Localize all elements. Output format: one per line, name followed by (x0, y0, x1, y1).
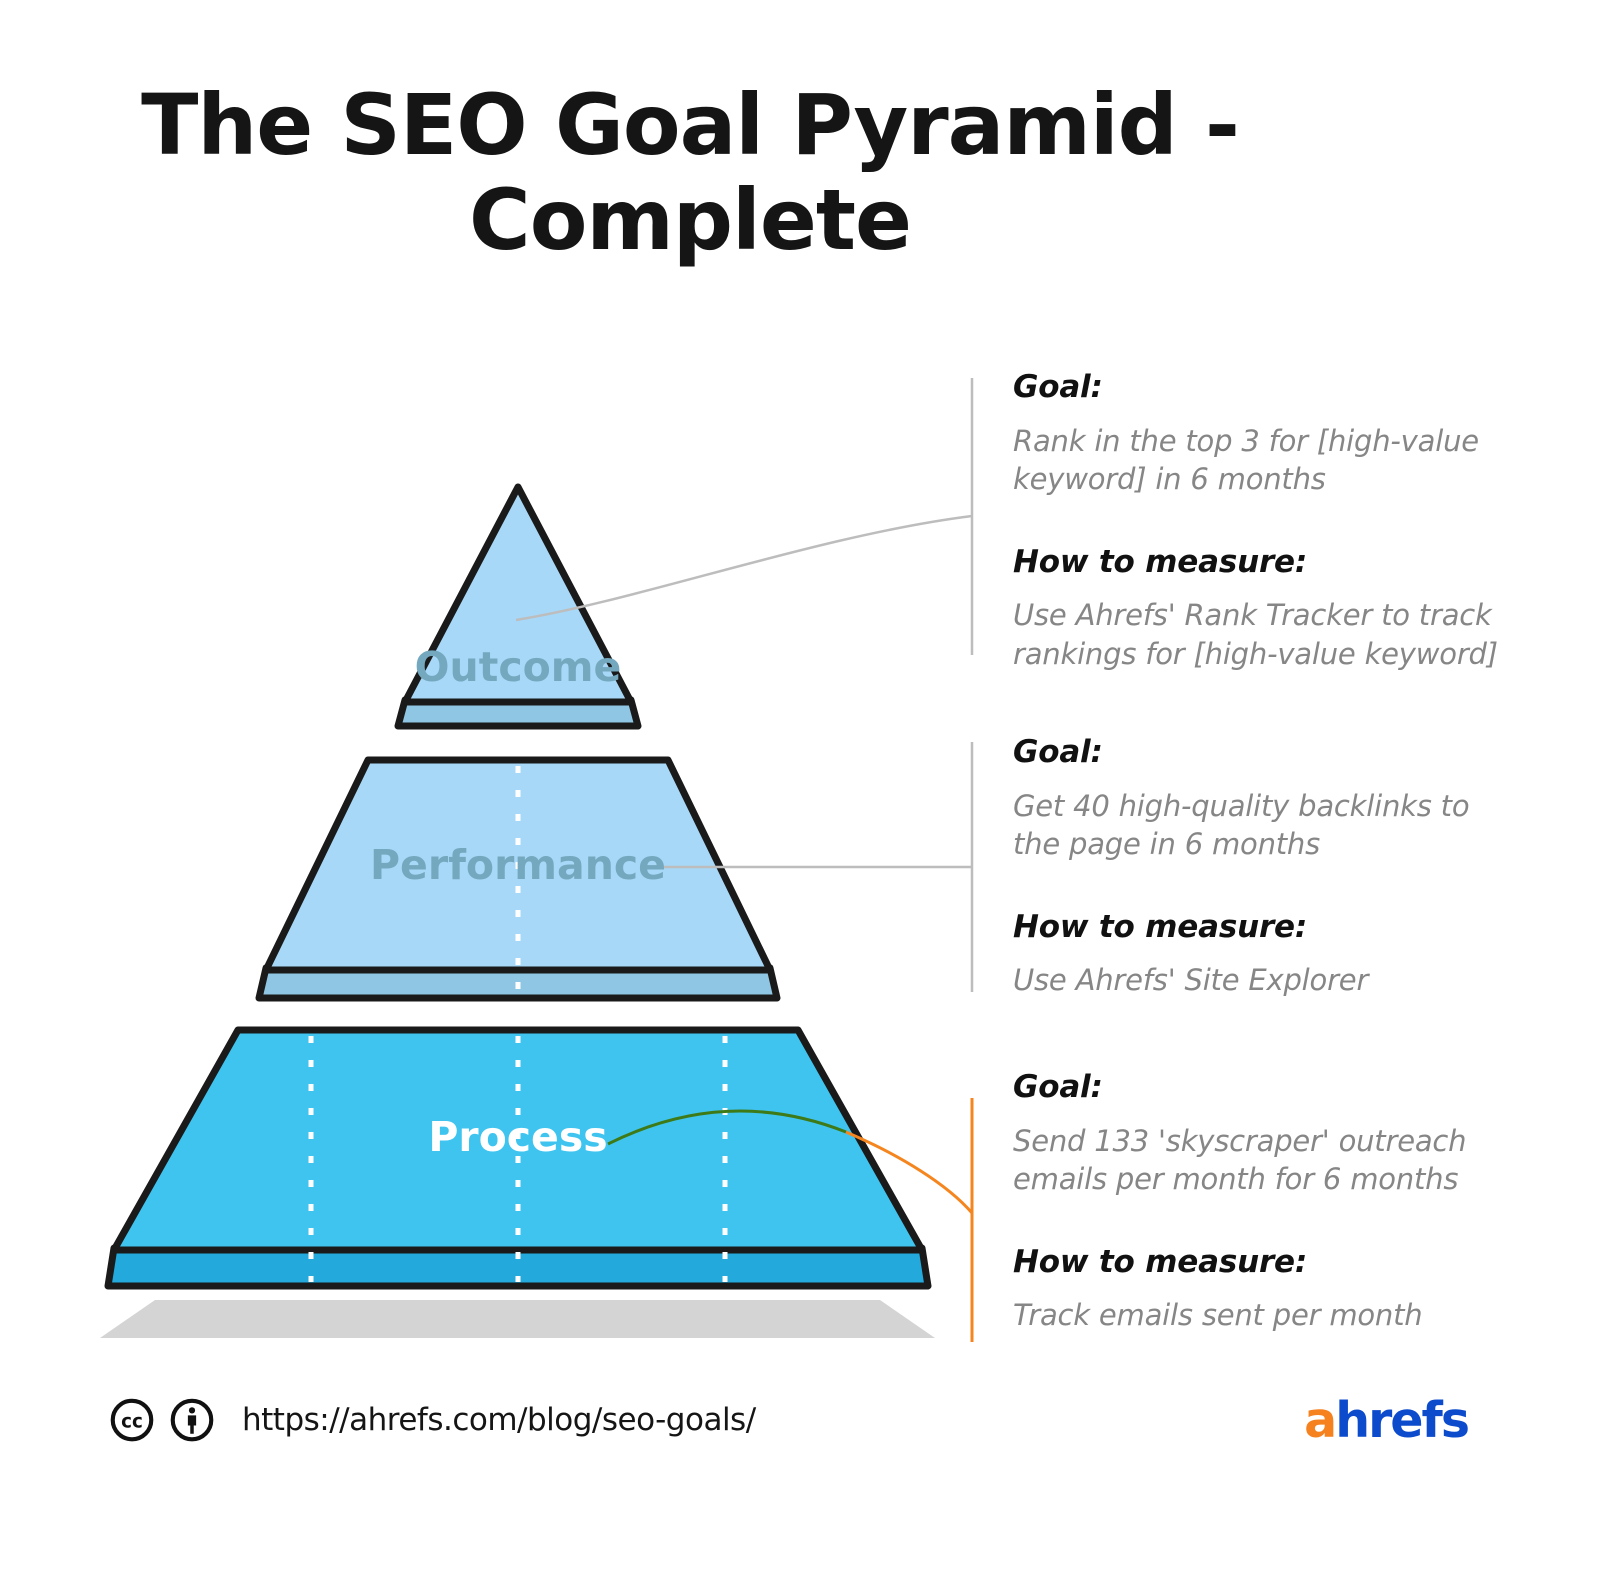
footer-license: cc https://ahrefs.com/blog/seo-goals/ (110, 1398, 756, 1442)
process-measure-heading: How to measure: (1013, 1243, 1513, 1283)
creative-commons-icon: cc (110, 1398, 154, 1442)
info-block-outcome: Goal: Rank in the top 3 for [high-value … (1013, 368, 1513, 674)
tier-label-process: Process (0, 1113, 1036, 1161)
process-goal-text: Send 133 'skyscraper' outreach emails pe… (1013, 1122, 1513, 1199)
infographic-canvas: The SEO Goal Pyramid - Complete (0, 0, 1600, 1570)
performance-goal-heading: Goal: (1013, 733, 1513, 773)
info-block-process: Goal: Send 133 'skyscraper' outreach ema… (1013, 1068, 1513, 1335)
tier-label-outcome: Outcome (0, 643, 1036, 691)
process-measure-text: Track emails sent per month (1013, 1296, 1513, 1335)
tier-label-performance: Performance (0, 841, 1036, 889)
attribution-icon (170, 1398, 214, 1442)
ground-shadow (100, 1300, 935, 1338)
footer-url[interactable]: https://ahrefs.com/blog/seo-goals/ (242, 1402, 756, 1438)
outcome-goal-text: Rank in the top 3 for [high-value keywor… (1013, 422, 1513, 499)
outcome-measure-heading: How to measure: (1013, 543, 1513, 583)
info-block-performance: Goal: Get 40 high-quality backlinks to t… (1013, 733, 1513, 1000)
performance-goal-text: Get 40 high-quality backlinks to the pag… (1013, 787, 1513, 864)
outcome-connector-curve (516, 516, 972, 620)
spacer (1013, 499, 1513, 543)
spacer (1013, 864, 1513, 908)
outcome-goal-heading: Goal: (1013, 368, 1513, 408)
logo-text: hrefs (1335, 1392, 1468, 1449)
ahrefs-logo: ahrefs (1304, 1392, 1468, 1449)
performance-measure-text: Use Ahrefs' Site Explorer (1013, 961, 1513, 1000)
spacer (1013, 1199, 1513, 1243)
svg-text:cc: cc (121, 1411, 143, 1432)
logo-letter-a: a (1304, 1392, 1335, 1449)
process-goal-heading: Goal: (1013, 1068, 1513, 1108)
outcome-measure-text: Use Ahrefs' Rank Tracker to track rankin… (1013, 596, 1513, 673)
performance-measure-heading: How to measure: (1013, 908, 1513, 948)
